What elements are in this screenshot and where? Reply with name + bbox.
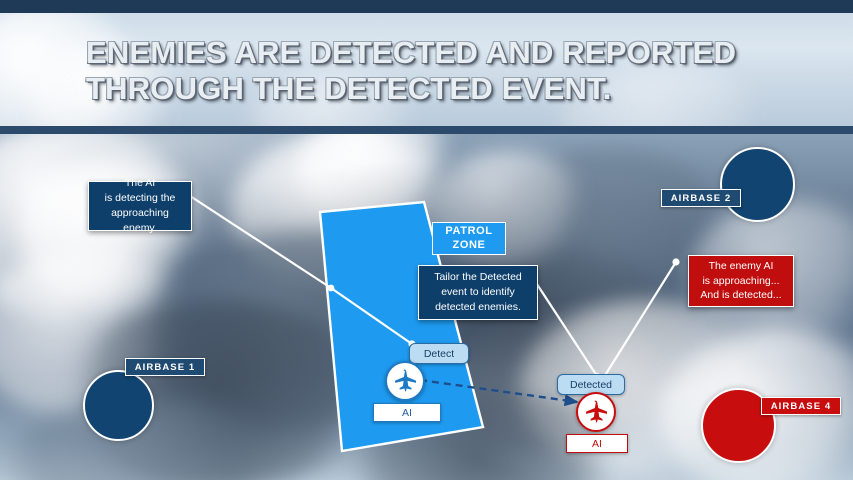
airbase-4-label[interactable]: AIRBASE 4 [761, 397, 841, 415]
header-bottom-rule [0, 126, 853, 134]
note-right: The enemy AI is approaching... And is de… [688, 255, 794, 307]
slide-canvas: ENEMIES ARE DETECTED AND REPORTED THROUG… [0, 0, 853, 480]
jet-fighter-icon-enemy[interactable] [576, 392, 616, 432]
title-banner: ENEMIES ARE DETECTED AND REPORTED THROUG… [0, 13, 853, 126]
header-top-rule [0, 0, 853, 13]
note-left: The AI is detecting the approaching enem… [88, 181, 192, 231]
detect-event-pill[interactable]: Detect [409, 343, 469, 364]
note-center: Tailor the Detected event to identify de… [418, 265, 538, 320]
airbase-2-label[interactable]: AIRBASE 2 [661, 189, 741, 207]
enemy-ai-label[interactable]: AI [566, 434, 628, 453]
page-title: ENEMIES ARE DETECTED AND REPORTED THROUG… [86, 35, 826, 108]
jet-glyph-red [582, 398, 610, 426]
airbase-1-label[interactable]: AIRBASE 1 [125, 358, 205, 376]
airbase-2-marker[interactable] [720, 147, 795, 222]
jet-glyph-blue [391, 367, 419, 395]
patrol-zone-label: PATROL ZONE [432, 222, 506, 255]
jet-fighter-icon-friendly[interactable] [385, 361, 425, 401]
airbase-1-marker[interactable] [83, 370, 154, 441]
friendly-ai-label[interactable]: AI [373, 403, 441, 422]
